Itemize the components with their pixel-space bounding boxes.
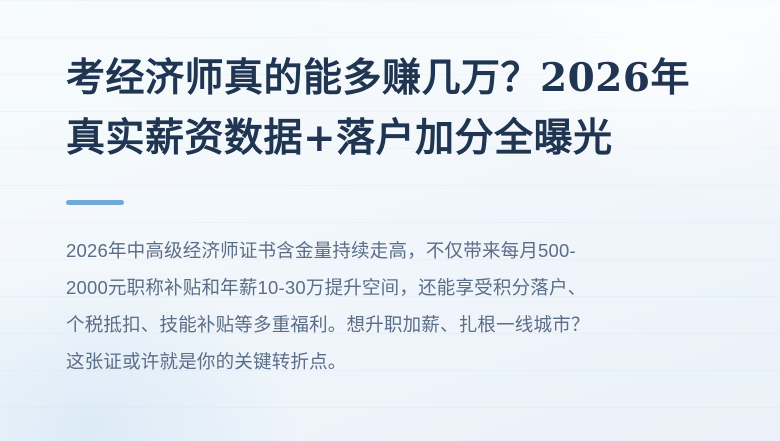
article-summary-line-1: 2026年中高级经济师证书含金量持续走高，不仅带来每月500-: [66, 232, 714, 269]
article-summary-line-3: 个税抵扣、技能补贴等多重福利。想升职加薪、扎根一线城市？: [66, 306, 714, 343]
article-summary-text: 2026年中高级经济师证书含金量持续走高，不仅带来每月500- 2000元职称补…: [66, 205, 714, 380]
card-content: 考经济师真的能多赚几万？2026年 真实薪资数据+落户加分全曝光 2026年中高…: [0, 0, 780, 380]
article-summary-line-2: 2000元职称补贴和年薪10-30万提升空间，还能享受积分落户、: [66, 269, 714, 306]
article-banner-card: 考经济师真的能多赚几万？2026年 真实薪资数据+落户加分全曝光 2026年中高…: [0, 0, 780, 441]
page-title: 考经济师真的能多赚几万？2026年 真实薪资数据+落户加分全曝光: [66, 0, 714, 169]
article-summary-line-4: 这张证或许就是你的关键转折点。: [66, 343, 714, 380]
page-title-line-2: 真实薪资数据+落户加分全曝光: [66, 108, 714, 168]
page-title-line-1: 考经济师真的能多赚几万？2026年: [66, 48, 714, 108]
